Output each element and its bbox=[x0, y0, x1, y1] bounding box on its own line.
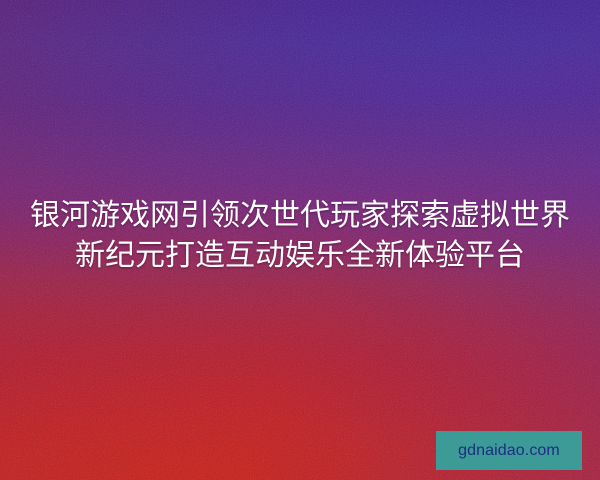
watermark-text: gdnaidao.com bbox=[458, 443, 560, 459]
headline-line-1: 银河游戏网引领次世代玩家探索虚拟世界 bbox=[0, 196, 600, 236]
headline: 银河游戏网引领次世代玩家探索虚拟世界 新纪元打造互动娱乐全新体验平台 bbox=[0, 196, 600, 276]
watermark-badge[interactable]: gdnaidao.com bbox=[436, 431, 582, 470]
promo-banner: 银河游戏网引领次世代玩家探索虚拟世界 新纪元打造互动娱乐全新体验平台 gdnai… bbox=[0, 0, 600, 480]
banner-content: 银河游戏网引领次世代玩家探索虚拟世界 新纪元打造互动娱乐全新体验平台 gdnai… bbox=[0, 0, 600, 480]
headline-line-2: 新纪元打造互动娱乐全新体验平台 bbox=[0, 236, 600, 276]
